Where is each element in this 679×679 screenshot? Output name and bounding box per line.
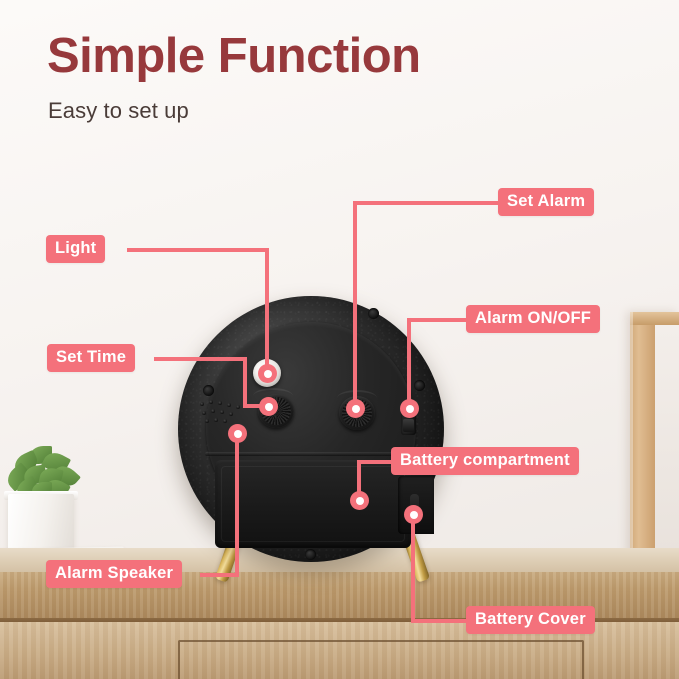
screw-icon [305, 549, 316, 560]
callout-set-alarm-line-h [353, 201, 500, 205]
callout-set-alarm-label: Set Alarm [498, 188, 594, 216]
callout-alarm-onoff-marker[interactable] [400, 399, 419, 418]
screw-icon [414, 380, 425, 391]
callout-alarm-onoff-line-h [407, 318, 469, 322]
alarm-switch-knob[interactable] [403, 419, 414, 432]
callout-light-line-v [265, 248, 269, 374]
callout-alarm-onoff-line-v [407, 318, 411, 408]
callout-battery-cover-label: Battery Cover [466, 606, 595, 634]
picture-frame-bevel [630, 312, 633, 574]
callout-set-time-line-h1 [154, 357, 243, 361]
product-feature-infographic: Light Set Time Set Alarm Alarm ON/OFF Ba… [0, 0, 679, 679]
picture-frame-top [630, 312, 679, 325]
drawer-outline [178, 640, 584, 679]
battery-compartment[interactable] [215, 460, 411, 548]
callout-alarm-speaker-line-v [235, 436, 239, 577]
callout-alarm-speaker-label: Alarm Speaker [46, 560, 182, 588]
callout-set-time-label: Set Time [47, 344, 135, 372]
callout-battery-compartment-label: Battery compartment [391, 447, 579, 475]
callout-battery-cover-line-v [411, 516, 415, 623]
callout-battery-cover-marker[interactable] [404, 505, 423, 524]
callout-alarm-speaker-marker[interactable] [228, 424, 247, 443]
page-subtitle: Easy to set up [48, 98, 189, 124]
plant-pot [8, 494, 74, 552]
callout-battery-compartment-marker[interactable] [350, 491, 369, 510]
callout-set-time-line-v [243, 357, 247, 408]
callout-light-marker[interactable] [258, 364, 277, 383]
callout-alarm-speaker-line-h [200, 573, 239, 577]
screw-icon [203, 385, 214, 396]
page-title: Simple Function [47, 32, 421, 81]
callout-battery-compartment-line-h [357, 460, 395, 464]
callout-light-line-h [127, 248, 269, 252]
callout-set-time-marker[interactable] [259, 397, 278, 416]
alarm-speaker-holes [200, 400, 242, 424]
callout-set-alarm-line-v [353, 201, 357, 408]
callout-light-label: Light [46, 235, 105, 263]
callout-battery-cover-line-h [411, 619, 469, 623]
picture-frame-inner [655, 325, 679, 574]
callout-set-alarm-marker[interactable] [346, 399, 365, 418]
screw-icon [368, 308, 379, 319]
callout-alarm-onoff-label: Alarm ON/OFF [466, 305, 600, 333]
